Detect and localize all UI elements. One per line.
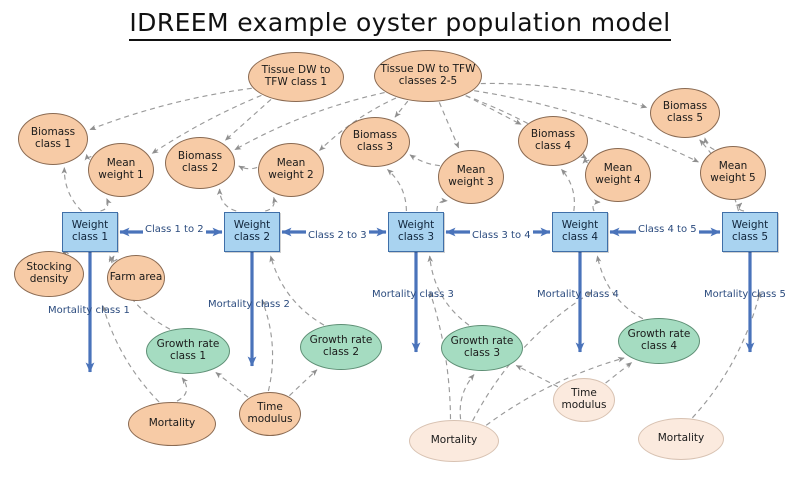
- node-biomass-1[interactable]: Biomass class 1: [18, 113, 88, 165]
- node-label: Farm area: [110, 272, 163, 284]
- node-label: Biomass class 3: [341, 130, 409, 154]
- dashed-edge-mean-weight-2-to-biomass-2: [239, 166, 257, 169]
- flow-label-mortality-class-5: Mortality class 5: [704, 289, 786, 300]
- dashed-edge-tissue-dw-tfw-c25-to-biomass-4: [466, 96, 521, 125]
- dashed-edge-tissue-dw-tfw-c25-to-biomass-5: [481, 83, 647, 107]
- node-label: Tissue DW to TFW class 1: [249, 65, 343, 89]
- node-label: Mortality: [658, 433, 705, 445]
- edge-label-class-1-to-2: Class 1 to 2: [143, 224, 206, 235]
- flow-label-mortality-class-2: Mortality class 2: [208, 299, 290, 310]
- dashed-edge-weight-class-1-to-biomass-1: [64, 168, 81, 211]
- dashed-edge-growth-rate-2-to-weight-class-2: [271, 256, 324, 325]
- node-label: Biomass class 5: [651, 101, 719, 125]
- node-label: Time modulus: [554, 388, 614, 412]
- node-label: Weight class 2: [225, 220, 279, 244]
- node-tissue-dw-tfw-c25[interactable]: Tissue DW to TFW classes 2-5: [374, 50, 482, 102]
- dashed-edge-time-modulus-2-to-growth-rate-3: [516, 366, 558, 387]
- dashed-edge-weight-class-3-to-mean-weight-3: [437, 201, 447, 211]
- node-weight-class-5[interactable]: Weight class 5: [722, 212, 778, 252]
- dashed-edge-weight-class-4-to-biomass-4: [561, 169, 574, 211]
- node-label: Mean weight 1: [89, 158, 153, 182]
- node-biomass-2[interactable]: Biomass class 2: [165, 137, 235, 189]
- node-label: Mortality: [149, 418, 196, 430]
- dashed-edge-mortality-1-to-growth-rate-1: [177, 378, 187, 401]
- node-mean-weight-3[interactable]: Mean weight 3: [438, 150, 504, 204]
- dashed-edge-time-modulus-1-to-growth-rate-2: [289, 370, 317, 396]
- node-stocking-density[interactable]: Stocking density: [14, 251, 84, 297]
- dashed-edge-tissue-dw-tfw-c25-to-biomass-3: [395, 101, 408, 117]
- node-label: Biomass class 1: [19, 127, 87, 151]
- node-tissue-dw-tfw-c1[interactable]: Tissue DW to TFW class 1: [248, 52, 344, 102]
- dashed-edge-time-modulus-2-to-growth-rate-4: [606, 363, 632, 384]
- node-mean-weight-4[interactable]: Mean weight 4: [585, 148, 651, 202]
- flow-label-mortality-class-3: Mortality class 3: [372, 289, 454, 300]
- dashed-edge-mean-weight-3-to-biomass-3: [410, 155, 440, 166]
- edge-label-class-3-to-4: Class 3 to 4: [470, 230, 533, 241]
- node-mean-weight-5[interactable]: Mean weight 5: [700, 146, 766, 200]
- node-label: Weight class 1: [63, 220, 117, 244]
- node-label: Weight class 3: [389, 220, 443, 244]
- dashed-edge-weight-class-1-to-mean-weight-1: [101, 199, 108, 211]
- node-label: Mean weight 2: [259, 158, 323, 182]
- node-weight-class-1[interactable]: Weight class 1: [62, 212, 118, 252]
- node-mean-weight-1[interactable]: Mean weight 1: [88, 143, 154, 197]
- dashed-edge-weight-class-5-to-mean-weight-5: [739, 203, 744, 211]
- node-biomass-5[interactable]: Biomass class 5: [650, 88, 720, 138]
- node-label: Time modulus: [240, 402, 300, 426]
- node-weight-class-3[interactable]: Weight class 3: [388, 212, 444, 252]
- node-time-modulus-1[interactable]: Time modulus: [239, 392, 301, 436]
- node-growth-rate-3[interactable]: Growth rate class 3: [441, 325, 523, 371]
- node-farm-area[interactable]: Farm area: [107, 255, 165, 301]
- node-mortality-1[interactable]: Mortality: [128, 402, 216, 446]
- edge-label-class-4-to-5: Class 4 to 5: [636, 224, 699, 235]
- dashed-edge-weight-class-3-to-biomass-3: [388, 170, 407, 212]
- node-weight-class-2[interactable]: Weight class 2: [224, 212, 280, 252]
- node-label: Growth rate class 4: [619, 329, 699, 353]
- node-mortality-3[interactable]: Mortality: [638, 418, 724, 460]
- node-time-modulus-2[interactable]: Time modulus: [553, 378, 615, 422]
- node-label: Mean weight 3: [439, 165, 503, 189]
- dashed-edge-weight-class-2-to-biomass-2: [220, 189, 237, 211]
- diagram-canvas: IDREEM example oyster population model T…: [0, 0, 800, 487]
- node-label: Biomass class 2: [166, 151, 234, 175]
- node-mean-weight-2[interactable]: Mean weight 2: [258, 143, 324, 197]
- dashed-edge-mean-weight-5-to-biomass-5: [705, 138, 714, 150]
- node-label: Growth rate class 3: [442, 336, 522, 360]
- node-label: Mean weight 5: [701, 161, 765, 185]
- dashed-edge-tissue-dw-tfw-c25-to-mean-weight-3: [439, 102, 458, 147]
- node-weight-class-4[interactable]: Weight class 4: [552, 212, 608, 252]
- node-label: Mean weight 4: [586, 163, 650, 187]
- node-label: Weight class 5: [723, 220, 777, 244]
- dashed-edge-time-modulus-1-to-growth-rate-1: [216, 373, 248, 398]
- node-mortality-2[interactable]: Mortality: [409, 420, 499, 462]
- dashed-edge-time-modulus-to-mortality-class-2: [262, 300, 273, 391]
- node-label: Weight class 4: [553, 220, 607, 244]
- dashed-edge-weight-class-2-to-mean-weight-2: [265, 197, 274, 211]
- flow-label-mortality-class-4: Mortality class 4: [537, 289, 619, 300]
- node-biomass-3[interactable]: Biomass class 3: [340, 117, 410, 167]
- node-label: Growth rate class 1: [147, 339, 229, 363]
- dashed-edge-weight-class-4-to-mean-weight-4: [593, 202, 600, 211]
- node-biomass-4[interactable]: Biomass class 4: [518, 116, 588, 166]
- dashed-edge-growth-rate-4-to-weight-class-4: [597, 256, 643, 319]
- flow-label-mortality-class-1: Mortality class 1: [48, 305, 130, 316]
- node-label: Stocking density: [15, 262, 83, 286]
- edge-label-class-2-to-3: Class 2 to 3: [306, 230, 369, 241]
- node-label: Biomass class 4: [519, 129, 587, 153]
- dashed-edge-mortality-2-to-growth-rate-3: [460, 375, 474, 420]
- dashed-edge-tissue-dw-tfw-c1-to-biomass-1: [90, 88, 252, 129]
- node-growth-rate-4[interactable]: Growth rate class 4: [618, 318, 700, 364]
- node-label: Mortality: [431, 435, 478, 447]
- node-growth-rate-1[interactable]: Growth rate class 1: [146, 328, 230, 374]
- node-growth-rate-2[interactable]: Growth rate class 2: [300, 324, 382, 370]
- node-label: Tissue DW to TFW classes 2-5: [375, 64, 481, 88]
- node-label: Growth rate class 2: [301, 335, 381, 359]
